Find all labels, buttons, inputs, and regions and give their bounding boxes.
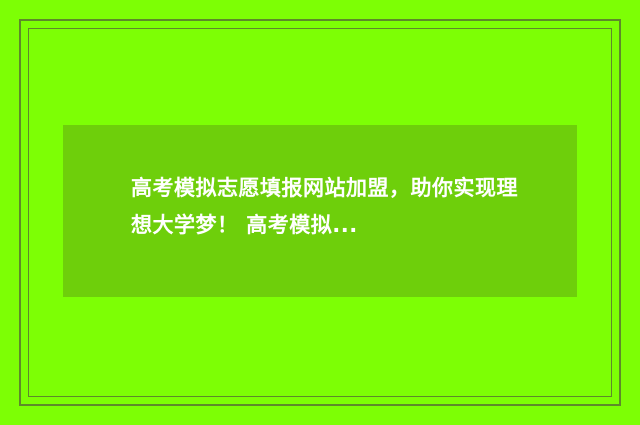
poster-canvas: 高考模拟志愿填报网站加盟，助你实现理想大学梦！ 高考模拟... xyxy=(0,0,640,425)
content-panel: 高考模拟志愿填报网站加盟，助你实现理想大学梦！ 高考模拟... xyxy=(63,125,577,297)
headline-text: 高考模拟志愿填报网站加盟，助你实现理想大学梦！ 高考模拟... xyxy=(131,170,531,244)
